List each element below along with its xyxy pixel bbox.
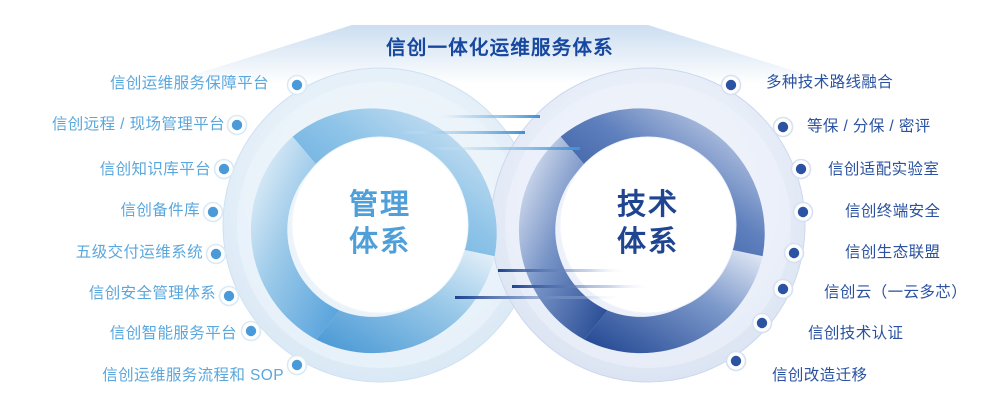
left-dot-4[interactable] bbox=[204, 203, 223, 222]
left-label-3[interactable]: 信创知识库平台 bbox=[100, 162, 211, 178]
left-dot-8[interactable] bbox=[288, 356, 307, 375]
left-label-8[interactable]: 信创运维服务流程和 SOP bbox=[102, 368, 284, 384]
left-dot-3[interactable] bbox=[215, 160, 234, 179]
right-label-8[interactable]: 信创改造迁移 bbox=[772, 368, 867, 384]
right-label-4[interactable]: 信创终端安全 bbox=[845, 204, 940, 220]
left-label-2[interactable]: 信创远程 / 现场管理平台 bbox=[52, 117, 225, 133]
left-label-5[interactable]: 五级交付运维系统 bbox=[76, 245, 203, 261]
left-label-1[interactable]: 信创运维服务保障平台 bbox=[110, 76, 269, 92]
page-title: 信创一体化运维服务体系 bbox=[0, 31, 1000, 60]
infographic-canvas: 信创一体化运维服务体系 管理 体系 技术 体系 信创运维服务保障平台 信创远程 … bbox=[0, 0, 1000, 408]
right-ring-label-line1: 技术 bbox=[568, 187, 728, 224]
right-ring-label: 技术 体系 bbox=[568, 187, 728, 261]
right-label-6[interactable]: 信创云（一云多芯） bbox=[824, 285, 967, 301]
left-dot-5[interactable] bbox=[207, 245, 226, 264]
right-label-2[interactable]: 等保 / 分保 / 密评 bbox=[807, 119, 931, 135]
left-label-4[interactable]: 信创备件库 bbox=[120, 203, 200, 219]
left-dot-6[interactable] bbox=[220, 287, 239, 306]
left-label-7[interactable]: 信创智能服务平台 bbox=[110, 326, 237, 342]
right-dot-8[interactable] bbox=[727, 352, 746, 371]
left-label-6[interactable]: 信创安全管理体系 bbox=[89, 286, 216, 302]
right-dot-1[interactable] bbox=[722, 76, 741, 95]
right-label-7[interactable]: 信创技术认证 bbox=[808, 326, 903, 342]
right-dot-2[interactable] bbox=[774, 118, 793, 137]
right-dot-3[interactable] bbox=[792, 160, 811, 179]
left-ring-label: 管理 体系 bbox=[300, 187, 460, 261]
right-dot-7[interactable] bbox=[753, 314, 772, 333]
right-dot-4[interactable] bbox=[794, 203, 813, 222]
left-ring-label-line1: 管理 bbox=[300, 187, 460, 224]
right-label-1[interactable]: 多种技术路线融合 bbox=[766, 75, 893, 91]
left-dot-7[interactable] bbox=[242, 322, 261, 341]
right-dot-6[interactable] bbox=[774, 280, 793, 299]
right-label-3[interactable]: 信创适配实验室 bbox=[828, 162, 939, 178]
left-ring-label-line2: 体系 bbox=[300, 224, 460, 261]
right-ring-label-line2: 体系 bbox=[568, 224, 728, 261]
right-label-5[interactable]: 信创生态联盟 bbox=[845, 245, 940, 261]
right-dot-5[interactable] bbox=[785, 244, 804, 263]
left-dot-1[interactable] bbox=[288, 76, 307, 95]
left-dot-2[interactable] bbox=[228, 116, 247, 135]
